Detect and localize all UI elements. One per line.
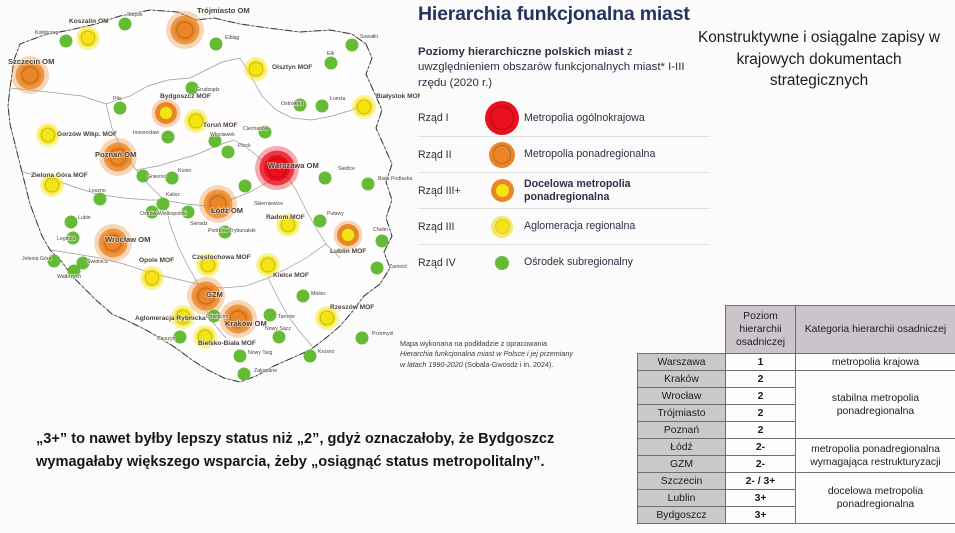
orange-yellow-ring-icon — [491, 179, 514, 202]
city-marker — [222, 146, 235, 159]
city-label: Gorzów Wlkp. MOF — [57, 131, 117, 138]
city-label: Zakopane — [254, 368, 277, 374]
city-label: Koszalin OM — [69, 18, 109, 25]
city-marker — [334, 221, 363, 250]
hierarchy-table-wrap: Poziom hierarchii osadniczej Kategoria h… — [637, 305, 955, 524]
city-marker — [362, 178, 375, 191]
city-label: Płock — [238, 143, 251, 149]
city-label: Gniezno — [147, 174, 166, 180]
table-cell-city: Wrocław — [638, 388, 726, 405]
city-label: Opole MOF — [139, 257, 174, 264]
city-label: Białystok MOF — [376, 93, 420, 100]
city-marker — [239, 180, 252, 193]
city-label: Włocławek — [210, 132, 235, 138]
city-label: Częstochowa MOF — [192, 254, 251, 261]
city-label: Chełm — [373, 227, 388, 233]
city-marker — [119, 18, 132, 31]
table-cell-level: 3+ — [726, 490, 796, 507]
city-label: Tarnów — [278, 314, 295, 320]
city-label: Szczecin OM — [8, 57, 54, 66]
city-label: Ełk — [327, 51, 335, 57]
city-label: Olsztyn MOF — [272, 64, 312, 71]
city-label: Piła — [113, 96, 122, 102]
legend-row: Rząd IVOśrodek subregionalny — [418, 244, 710, 280]
city-label: Warszawa OM — [268, 161, 319, 170]
city-marker — [371, 262, 384, 275]
source-line-1: Mapa wykonana na podkładzie z opracowani… — [400, 339, 547, 348]
table-corner-cell — [638, 306, 726, 354]
table-cell-city: Lublin — [638, 490, 726, 507]
red-large-disc-icon — [485, 101, 519, 135]
city-label: Rzeszów MOF — [330, 304, 374, 311]
city-label: Cieszyn — [157, 336, 176, 342]
city-label: Inowrocław — [133, 130, 159, 136]
city-label: Trójmiasto OM — [197, 6, 250, 15]
city-label: Konin — [178, 168, 191, 174]
source-line-2: Hierarchia funkcjonalna miast w Polsce i… — [400, 349, 573, 358]
city-marker — [210, 38, 223, 51]
table-cell-city: Bydgoszcz — [638, 507, 726, 524]
table-cell-city: Trójmiasto — [638, 405, 726, 422]
city-marker — [157, 198, 170, 211]
city-marker — [65, 216, 78, 229]
city-label: Bydgoszcz MOF — [160, 93, 211, 100]
table-cell-category: metropolia krajowa — [796, 354, 955, 371]
table-row: Kraków2stabilna metropolia ponadregional… — [638, 371, 955, 388]
city-label: Bielsko-Biała MOF — [198, 340, 256, 347]
city-label: Mielec — [311, 291, 326, 297]
legend-marker-cell — [480, 179, 524, 202]
city-label: Puławy — [327, 211, 344, 217]
table-cell-level: 2- — [726, 456, 796, 473]
table-cell-level: 2- — [726, 439, 796, 456]
city-label: Suwałki — [360, 34, 378, 40]
city-label: Aglomeracja Rybnicka — [135, 315, 206, 322]
city-marker — [184, 109, 208, 133]
legend-marker-cell — [480, 101, 524, 135]
city-label: Zamość — [389, 264, 408, 270]
city-marker — [76, 26, 100, 50]
city-marker — [297, 290, 310, 303]
yellow-disc-icon — [491, 216, 513, 238]
city-label: Legnica — [57, 236, 75, 242]
hierarchy-table: Poziom hierarchii osadniczej Kategoria h… — [637, 305, 955, 524]
city-marker — [162, 131, 175, 144]
table-cell-level: 2 — [726, 371, 796, 388]
city-label: Wrocław OM — [105, 235, 150, 244]
legend-description: Docelowa metropolia ponadregionalna — [524, 178, 710, 204]
city-label: GZM — [206, 290, 223, 299]
legend-marker-cell — [480, 216, 524, 238]
map-svg: Szczecin OMKołobrzegKoszalin OMSłupskTró… — [0, 0, 420, 400]
city-label: Kielce MOF — [273, 272, 309, 279]
table-cell-city: Kraków — [638, 371, 726, 388]
city-label: Kalisz — [166, 192, 180, 198]
city-label: Poznań OM — [95, 150, 136, 159]
city-label: Toruń MOF — [203, 122, 238, 129]
city-label: Leszno — [89, 188, 106, 194]
city-label: Ostrołęka — [281, 101, 303, 107]
map-legend: Poziomy hierarchiczne polskich miast z u… — [418, 45, 710, 280]
city-label: Lubin — [78, 215, 91, 221]
poland-hierarchy-map: Szczecin OMKołobrzegKoszalin OMSłupskTró… — [0, 0, 420, 400]
city-marker — [356, 332, 369, 345]
table-body: Warszawa1metropolia krajowaKraków2stabil… — [638, 354, 955, 524]
orange-disc-icon — [489, 142, 515, 168]
legend-rank-label: Rząd II — [418, 149, 480, 161]
legend-rank-label: Rząd III — [418, 221, 480, 233]
green-disc-icon — [495, 256, 509, 270]
city-label: Radom MOF — [266, 214, 305, 221]
city-label: Łódź OM — [211, 206, 243, 215]
city-marker — [244, 57, 268, 81]
city-marker — [325, 57, 338, 70]
legend-row: Rząd IMetropolia ogólnokrajowa — [418, 100, 710, 136]
table-row: Warszawa1metropolia krajowa — [638, 354, 955, 371]
legend-intro-bold: Poziomy hierarchiczne polskich miast — [418, 46, 624, 58]
city-marker — [346, 39, 359, 52]
city-label: Sieradz — [190, 221, 208, 227]
table-cell-city: Poznań — [638, 422, 726, 439]
city-marker — [314, 215, 327, 228]
city-marker — [140, 266, 164, 290]
city-label: Elbląg — [225, 35, 240, 41]
legend-description: Metropolia ogólnokrajowa — [524, 112, 645, 125]
quote-text: „3+” to nawet byłby lepszy status niż „2… — [36, 428, 636, 474]
city-marker — [316, 100, 329, 113]
city-label: Słupsk — [127, 12, 143, 18]
map-source-note: Mapa wykonana na podkładzie z opracowani… — [400, 339, 640, 370]
table-cell-city: Szczecin — [638, 473, 726, 490]
city-label: Świdnica — [87, 257, 108, 265]
table-cell-level: 1 — [726, 354, 796, 371]
table-cell-level: 2 — [726, 422, 796, 439]
city-marker — [319, 172, 332, 185]
table-cell-city: GZM — [638, 456, 726, 473]
legend-description: Metropolia ponadregionalna — [524, 148, 655, 161]
table-cell-level: 3+ — [726, 507, 796, 524]
city-label: Skierniewice — [254, 201, 283, 207]
table-cell-category: stabilna metropolia ponadregionalna — [796, 371, 955, 439]
legend-rank-label: Rząd I — [418, 112, 480, 124]
table-cell-city: Warszawa — [638, 354, 726, 371]
legend-description: Ośrodek subregionalny — [524, 256, 633, 269]
city-marker — [152, 99, 181, 128]
source-line-4: (Sobala-Gwosdz i in. 2024). — [465, 360, 554, 369]
legend-intro: Poziomy hierarchiczne polskich miast z u… — [418, 45, 710, 91]
map-title: Hierarchia funkcjonalna miast — [418, 3, 708, 26]
city-marker — [114, 102, 127, 115]
table-row: Łódź2-metropolia ponadregionalna wymagaj… — [638, 439, 955, 456]
legend-row: Rząd III+Docelowa metropolia ponadregion… — [418, 172, 710, 208]
table-cell-category: metropolia ponadregionalna wymagająca re… — [796, 439, 955, 473]
city-label: Krosno — [318, 349, 335, 355]
city-label: Piotrków Trybunalski — [208, 228, 256, 234]
city-marker — [166, 172, 179, 185]
table-cell-city: Łódź — [638, 439, 726, 456]
city-label: Łomża — [330, 96, 346, 102]
city-marker — [352, 95, 376, 119]
legend-marker-cell — [480, 256, 524, 270]
table-cell-level: 2 — [726, 405, 796, 422]
city-marker — [238, 368, 251, 381]
city-marker — [234, 350, 247, 363]
legend-rank-label: Rząd III+ — [418, 185, 480, 197]
city-label: Nowy Sącz — [265, 326, 291, 332]
headline-text: Konstruktywne i osiągalne zapisy w krajo… — [690, 27, 948, 92]
city-label: Zielona Góra MOF — [31, 172, 88, 179]
legend-rows: Rząd IMetropolia ogólnokrajowaRząd IIMet… — [418, 100, 710, 280]
city-marker — [273, 331, 286, 344]
city-label: Lublin MOF — [330, 248, 366, 255]
city-label: Jelenia Góra — [22, 256, 52, 262]
city-label: Kołobrzeg — [35, 30, 58, 36]
city-marker — [304, 350, 317, 363]
city-label: Przemyśl — [372, 331, 393, 337]
slide-root: Szczecin OMKołobrzegKoszalin OMSłupskTró… — [0, 0, 955, 533]
legend-row: Rząd IIIAglomeracja regionalna — [418, 208, 710, 244]
table-header-level: Poziom hierarchii osadniczej — [726, 306, 796, 354]
city-marker — [60, 35, 73, 48]
legend-rank-label: Rząd IV — [418, 257, 480, 269]
city-label: Ciechanów — [243, 126, 269, 132]
city-label: Siedlce — [338, 166, 355, 172]
city-label: Biała Podlaska — [378, 176, 412, 182]
legend-row: Rząd IIMetropolia ponadregionalna — [418, 136, 710, 172]
city-marker — [94, 193, 107, 206]
city-marker — [199, 185, 237, 223]
city-marker — [376, 235, 389, 248]
table-row: Szczecin2- / 3+docelowa metropolia ponad… — [638, 473, 955, 490]
legend-marker-cell — [480, 142, 524, 168]
city-label: Wałbrzych — [57, 274, 81, 280]
city-label: Ostrów Wielkopolski — [140, 211, 187, 217]
table-header-row: Poziom hierarchii osadniczej Kategoria h… — [638, 306, 955, 354]
table-cell-category: docelowa metropolia ponadregionalna — [796, 473, 955, 524]
table-cell-level: 2 — [726, 388, 796, 405]
table-cell-level: 2- / 3+ — [726, 473, 796, 490]
table-header-category: Kategoria hierarchii osadniczej — [796, 306, 955, 354]
city-marker — [166, 11, 204, 49]
legend-description: Aglomeracja regionalna — [524, 220, 635, 233]
city-label: Grudziądz — [196, 87, 220, 93]
city-label: Nowy Targ — [248, 350, 273, 356]
city-label: Kraków OM — [225, 319, 267, 328]
source-line-3: w latach 1990-2020 — [400, 360, 463, 369]
